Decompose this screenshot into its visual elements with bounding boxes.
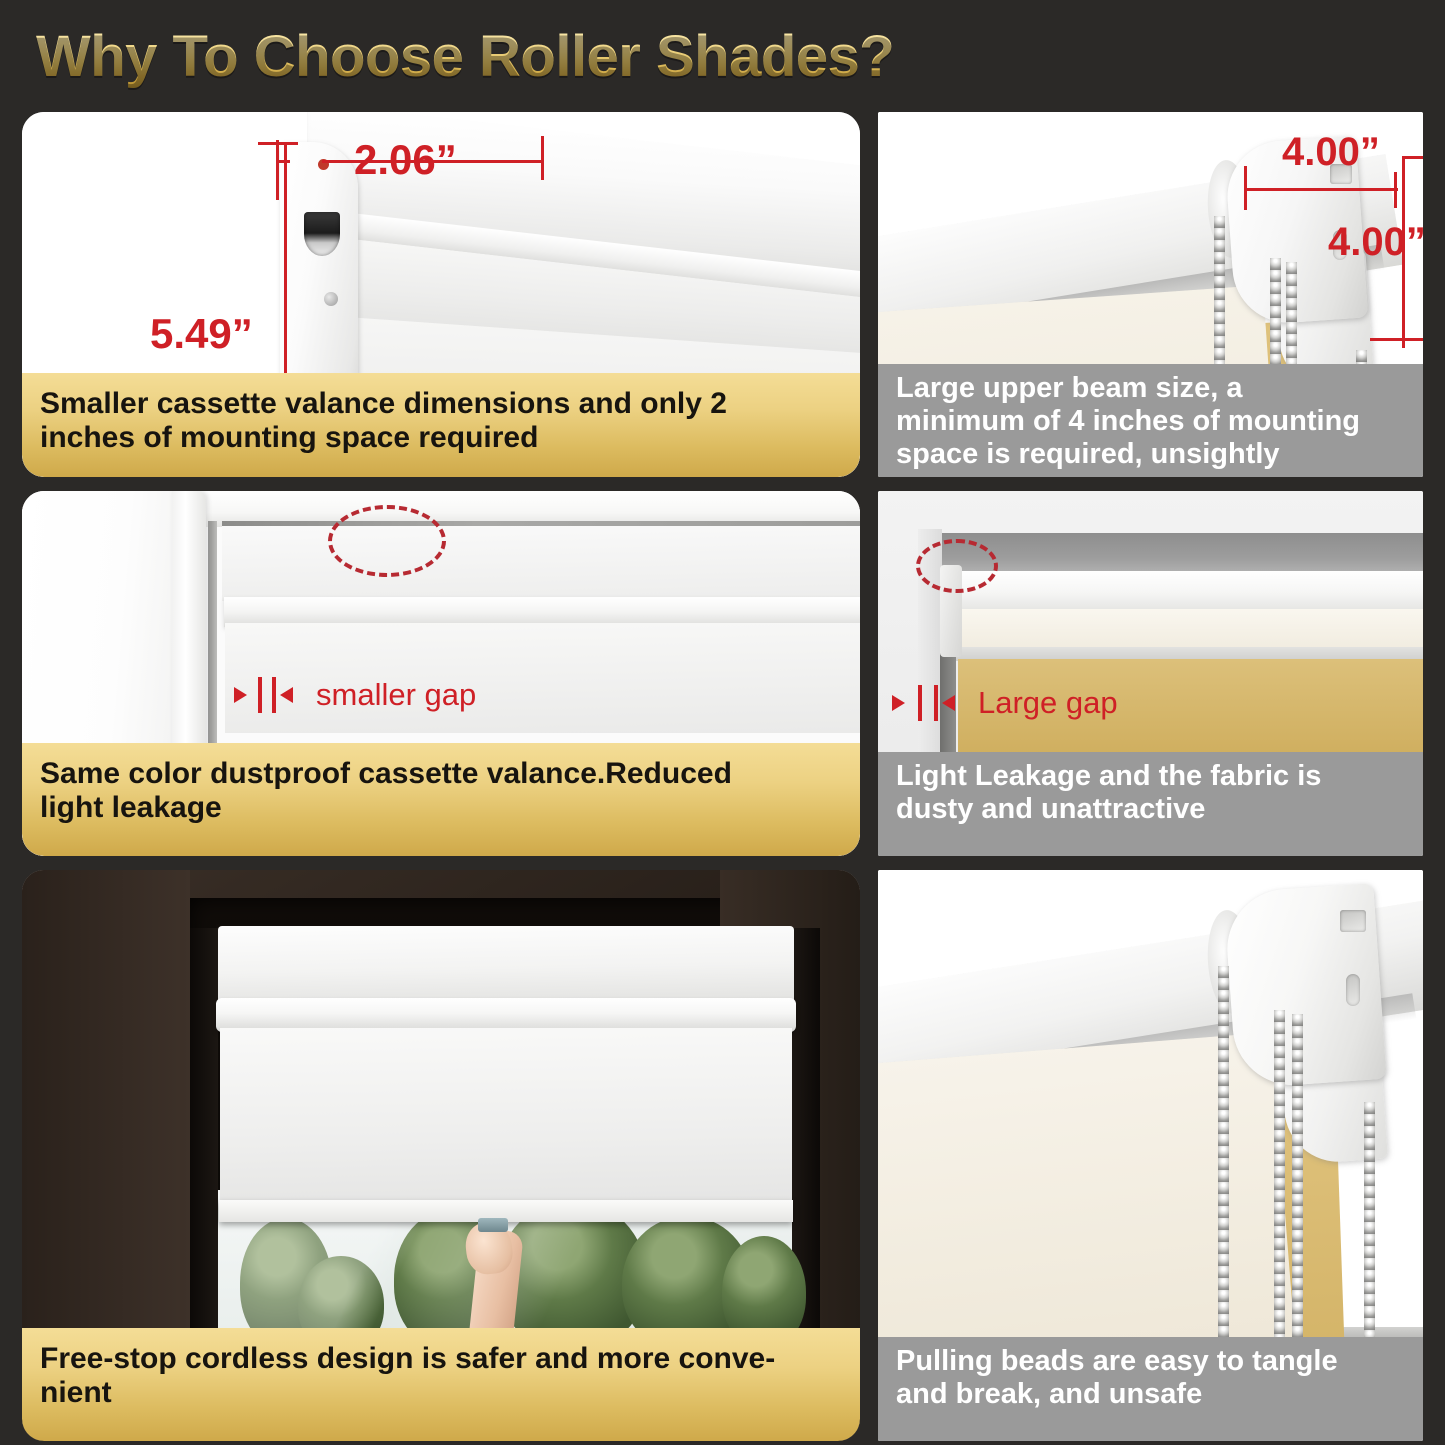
- bead-chain: [1218, 966, 1229, 1338]
- panel-caption-disadvantage-3: Pulling beads are easy to tangle and bre…: [878, 1337, 1423, 1441]
- panel-caption-disadvantage-1: Large upper beam size, a minimum of 4 in…: [878, 364, 1423, 477]
- panel-dustproof-valance: smaller gap Same color dustproof cassett…: [22, 491, 860, 856]
- bracket-slot: [304, 212, 340, 256]
- page-header: Why To Choose Roller Shades?: [0, 0, 1445, 112]
- panel-caption-disadvantage-2: Light Leakage and the fabric is dusty an…: [878, 752, 1423, 856]
- arrow-right-icon: [234, 687, 247, 703]
- bead-chain: [1364, 1102, 1375, 1338]
- bead-chain: [1292, 1014, 1303, 1338]
- panel-caption-advantage-1: Smaller cassette valance dimensions and …: [22, 373, 860, 477]
- panel-light-leakage: Large gap Light Leakage and the fabric i…: [878, 491, 1423, 856]
- gap-callout-label: smaller gap: [316, 677, 476, 713]
- page-title: Why To Choose Roller Shades?: [36, 23, 894, 90]
- arrow-right-icon: [892, 695, 905, 711]
- bead-chain: [1274, 1010, 1285, 1338]
- dimension-label-height: 5.49”: [150, 310, 253, 358]
- panel-large-upper-beam: 4.00” 4.00” Large upper beam size, a min…: [878, 112, 1423, 477]
- dimension-label-width: 2.06”: [354, 136, 457, 184]
- screw-icon: [324, 292, 338, 306]
- panel-pulling-beads: Pulling beads are easy to tangle and bre…: [878, 870, 1423, 1441]
- panel-caption-advantage-3: Free-stop cordless design is safer and m…: [22, 1328, 860, 1441]
- comparison-grid: 2.06” 5.49” Smaller cassette valance dim…: [22, 112, 1423, 1441]
- arrow-left-icon: [280, 687, 293, 703]
- highlight-ellipse: [916, 539, 998, 593]
- arrow-left-icon: [942, 695, 955, 711]
- highlight-ellipse: [328, 505, 446, 577]
- panel-cassette-valance-dimensions: 2.06” 5.49” Smaller cassette valance dim…: [22, 112, 860, 477]
- pull-handle: [478, 1218, 508, 1232]
- dimension-label-width: 4.00”: [1282, 130, 1380, 175]
- panel-cordless-design: Free-stop cordless design is safer and m…: [22, 870, 860, 1441]
- panel-caption-advantage-2: Same color dustproof cassette valance.Re…: [22, 743, 860, 856]
- gap-callout-label: Large gap: [978, 685, 1118, 721]
- dimension-label-height: 4.00”: [1328, 220, 1423, 265]
